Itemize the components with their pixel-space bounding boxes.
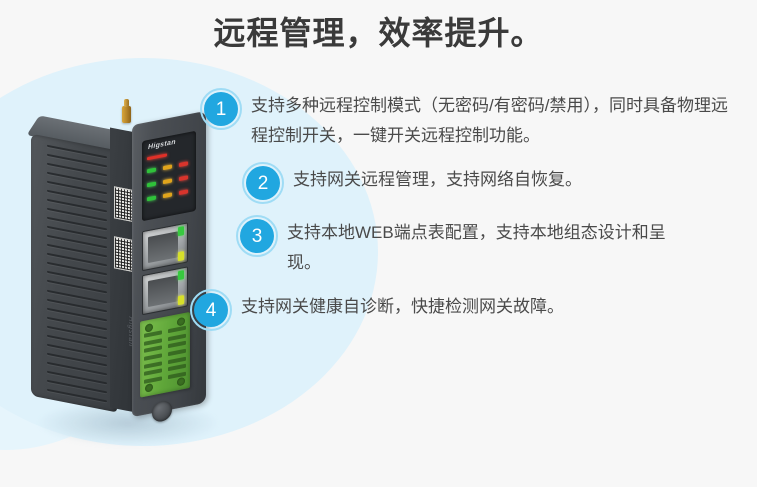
- feature-badge-4: 4: [190, 289, 232, 331]
- feature-text-1: 支持多种远程控制模式（无密码/有密码/禁用），同时具备物理远程控制开关，一键开关…: [251, 88, 731, 151]
- badge-number: 4: [194, 293, 228, 327]
- ventilation-slots: [47, 145, 107, 403]
- led-green-icon: [147, 168, 156, 174]
- brand-logo: Higstan: [148, 139, 176, 151]
- badge-number: 2: [246, 166, 280, 200]
- terminal-block-connector: [140, 312, 190, 398]
- power-led: [147, 153, 167, 160]
- led-yellow-icon: [163, 164, 172, 170]
- badge-number: 1: [204, 92, 238, 126]
- led-green-icon: [147, 196, 156, 202]
- feature-item-4: 4 支持网关健康自诊断，快捷检测网关故障。: [190, 289, 746, 331]
- led-green-icon: [147, 182, 156, 188]
- device-left-face: [31, 134, 117, 413]
- feature-text-4: 支持网关健康自诊断，快捷检测网关故障。: [241, 289, 564, 322]
- side-brand-text: Higstan: [112, 313, 134, 373]
- feature-badge-1: 1: [200, 88, 242, 130]
- ethernet-port-2: [142, 266, 188, 315]
- feature-list: 1 支持多种远程控制模式（无密码/有密码/禁用），同时具备物理远程控制开关，一键…: [186, 88, 746, 342]
- feature-badge-3: 3: [236, 215, 278, 257]
- ethernet-port-1: [142, 222, 188, 271]
- qr-code-label-2: [114, 236, 133, 272]
- feature-item-1: 1 支持多种远程控制模式（无密码/有密码/禁用），同时具备物理远程控制开关，一键…: [200, 88, 746, 151]
- promo-banner: 远程管理，效率提升。 Higstan Higstan: [0, 0, 757, 487]
- feature-text-2: 支持网关远程管理，支持网络自恢复。: [293, 162, 582, 195]
- feature-item-3: 3 支持本地WEB端点表配置，支持本地组态设计和呈现。: [236, 215, 746, 278]
- feature-item-2: 2 支持网关远程管理，支持网络自恢复。: [242, 162, 746, 204]
- led-yellow-icon: [163, 178, 172, 184]
- badge-number: 3: [240, 219, 274, 253]
- qr-code-label-1: [114, 186, 133, 222]
- antenna-connector-right: [122, 106, 131, 123]
- led-yellow-icon: [163, 192, 172, 198]
- led-row-1: [147, 161, 191, 174]
- feature-text-3: 支持本地WEB端点表配置，支持本地组态设计和呈现。: [287, 215, 667, 278]
- led-row-2: [147, 175, 191, 188]
- port-link-led-icon: [178, 270, 184, 280]
- led-row-3: [147, 189, 191, 202]
- page-title: 远程管理，效率提升。: [0, 8, 757, 54]
- port-activity-led-icon: [178, 251, 184, 261]
- port-activity-led-icon: [178, 295, 184, 305]
- feature-badge-2: 2: [242, 162, 284, 204]
- port-link-led-icon: [178, 226, 184, 236]
